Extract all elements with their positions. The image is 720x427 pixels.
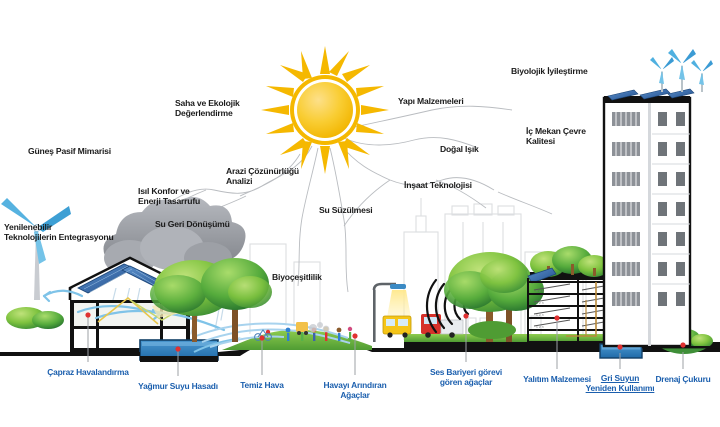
topic-label-ic-mekan-cevre-kalitesi: İç Mekan Çevre Kalitesi	[526, 126, 586, 146]
tower-wind-turbines	[650, 49, 713, 92]
sun-icon	[261, 46, 389, 174]
topic-label-insaat-teknolojisi: İnşaat Teknolojisi	[404, 180, 472, 190]
topic-label-biyolojik-iyilestirme: Biyolojik İyileştirme	[511, 66, 588, 76]
topic-label-biyocesitlilik: Biyoçeşitlilik	[272, 272, 322, 282]
topic-label-saha-ve-ekolojik-degerlendirme: Saha ve Ekolojik Değerlendirme	[175, 98, 240, 118]
callout-label-havayi-arindiran-agaclar: Havayı Arındıran Ağaçlar	[295, 381, 415, 401]
topic-label-dogal-isik: Doğal Işık	[440, 144, 479, 154]
building-cross-section-insulation: 1 2 31 2 3 1 2 31 2 3	[528, 246, 612, 342]
topic-label-su-geri-donusumu: Su Geri Dönüşümü	[155, 219, 230, 229]
topic-label-yenilenebilir-teknolojilerin-entegrasyonu: Yenilenebilir Teknolojilerin Entegrasyon…	[4, 222, 114, 242]
svg-text:1 2 3: 1 2 3	[536, 289, 544, 293]
callout-label-drenaj-cukuru: Drenaj Çukuru	[623, 375, 720, 385]
topic-label-gunes-pasif-mimarisi: Güneş Pasif Mimarisi	[28, 146, 111, 156]
topic-label-yapi-malzemeleri: Yapı Malzemeleri	[398, 96, 464, 106]
topic-label-isil-konfor-ve-enerji-tasarrufu: Isıl Konfor ve Enerji Tasarrufu	[138, 186, 200, 206]
wind-turbine-left	[1, 198, 71, 329]
bus-icon	[383, 316, 411, 338]
tower-building	[604, 49, 713, 346]
svg-text:1 2 3: 1 2 3	[536, 313, 544, 317]
topic-label-su-suzulmesi: Su Süzülmesi	[319, 205, 372, 215]
topic-label-arazi-cozunurlugu-analizi: Arazi Çözünürlüğü Analizi	[226, 166, 299, 186]
infographic-canvas: 1 2 31 2 3 1 2 31 2 3	[0, 0, 720, 427]
callout-label-capraz-havalandirma: Çapraz Havalandırma	[28, 368, 148, 378]
svg-text:1 2 3: 1 2 3	[536, 325, 544, 329]
svg-text:1 2 3: 1 2 3	[536, 301, 544, 305]
